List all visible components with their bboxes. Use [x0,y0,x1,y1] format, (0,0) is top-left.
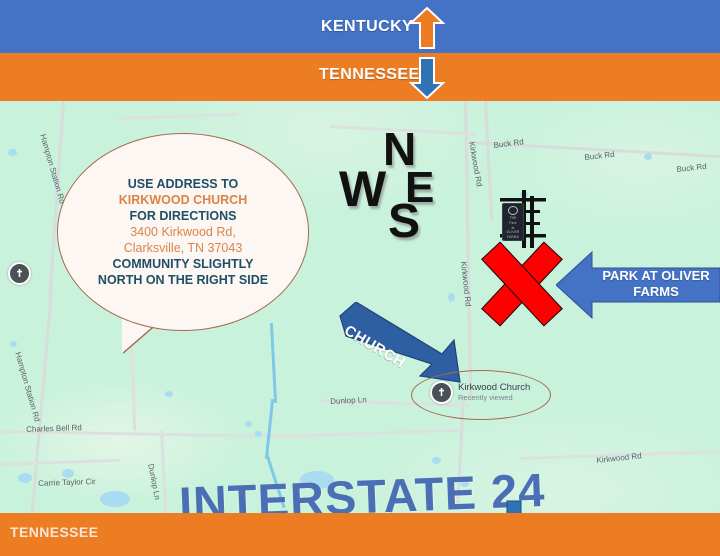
sign-emblem-icon [508,206,518,215]
park-banner-line2: FARMS [592,284,720,300]
pond [8,149,17,156]
church-pin-icon[interactable] [430,381,453,404]
callout-line: NORTH ON THE RIGHT SIDE [98,272,268,288]
poi-text-block: Kirkwood Church Recently viewed [458,383,530,403]
directions-map-graphic: KENTUCKY TENNESSEE [0,0,720,556]
state-label-tennessee-bottom: TENNESSEE [10,524,98,540]
compass-south-label: S [388,198,420,246]
callout-line: Clarksville, TN 37043 [124,240,243,256]
sign-line: FARMS [507,235,519,240]
park-at-oliver-farms-sign: THE Park at OLIVER FARMS [502,203,524,241]
compass-west-label: W [339,164,386,214]
pond [62,469,74,478]
state-label-kentucky: KENTUCKY [321,18,413,36]
arrow-up-icon [409,7,445,49]
callout-line: KIRKWOOD CHURCH [119,192,247,208]
pond [18,473,32,483]
state-label-tennessee-top: TENNESSEE [319,66,420,84]
road-label: Charles Bell Rd [26,423,82,434]
pond [165,391,173,397]
pond [432,457,441,464]
pond [448,293,455,302]
pond [255,431,262,437]
park-banner-text: PARK AT OLIVER FARMS [592,268,720,301]
road-label: Dunlop Ln [330,395,367,406]
state-band-tennessee-bottom [0,513,720,556]
poi-subtitle: Recently viewed [458,394,530,403]
address-callout: USE ADDRESS TO KIRKWOOD CHURCH FOR DIREC… [57,133,309,331]
park-banner-line1: PARK AT OLIVER [592,268,720,284]
callout-line: FOR DIRECTIONS [130,208,237,224]
pond [10,341,17,347]
arrow-down-icon [409,56,445,99]
park-at-oliver-farms-arrow: PARK AT OLIVER FARMS [556,250,720,320]
red-x-marker [481,243,563,323]
pond [245,421,252,427]
callout-line: 3400 Kirkwood Rd, [130,224,236,240]
kirkwood-church-poi[interactable]: Kirkwood Church Recently viewed [430,381,530,404]
pond [100,491,130,507]
callout-line: USE ADDRESS TO [128,176,238,192]
callout-line: COMMUNITY SLIGHTLY [113,256,254,272]
poi-title: Kirkwood Church [458,383,530,394]
pond [644,153,652,160]
church-pin-icon[interactable] [8,262,31,285]
